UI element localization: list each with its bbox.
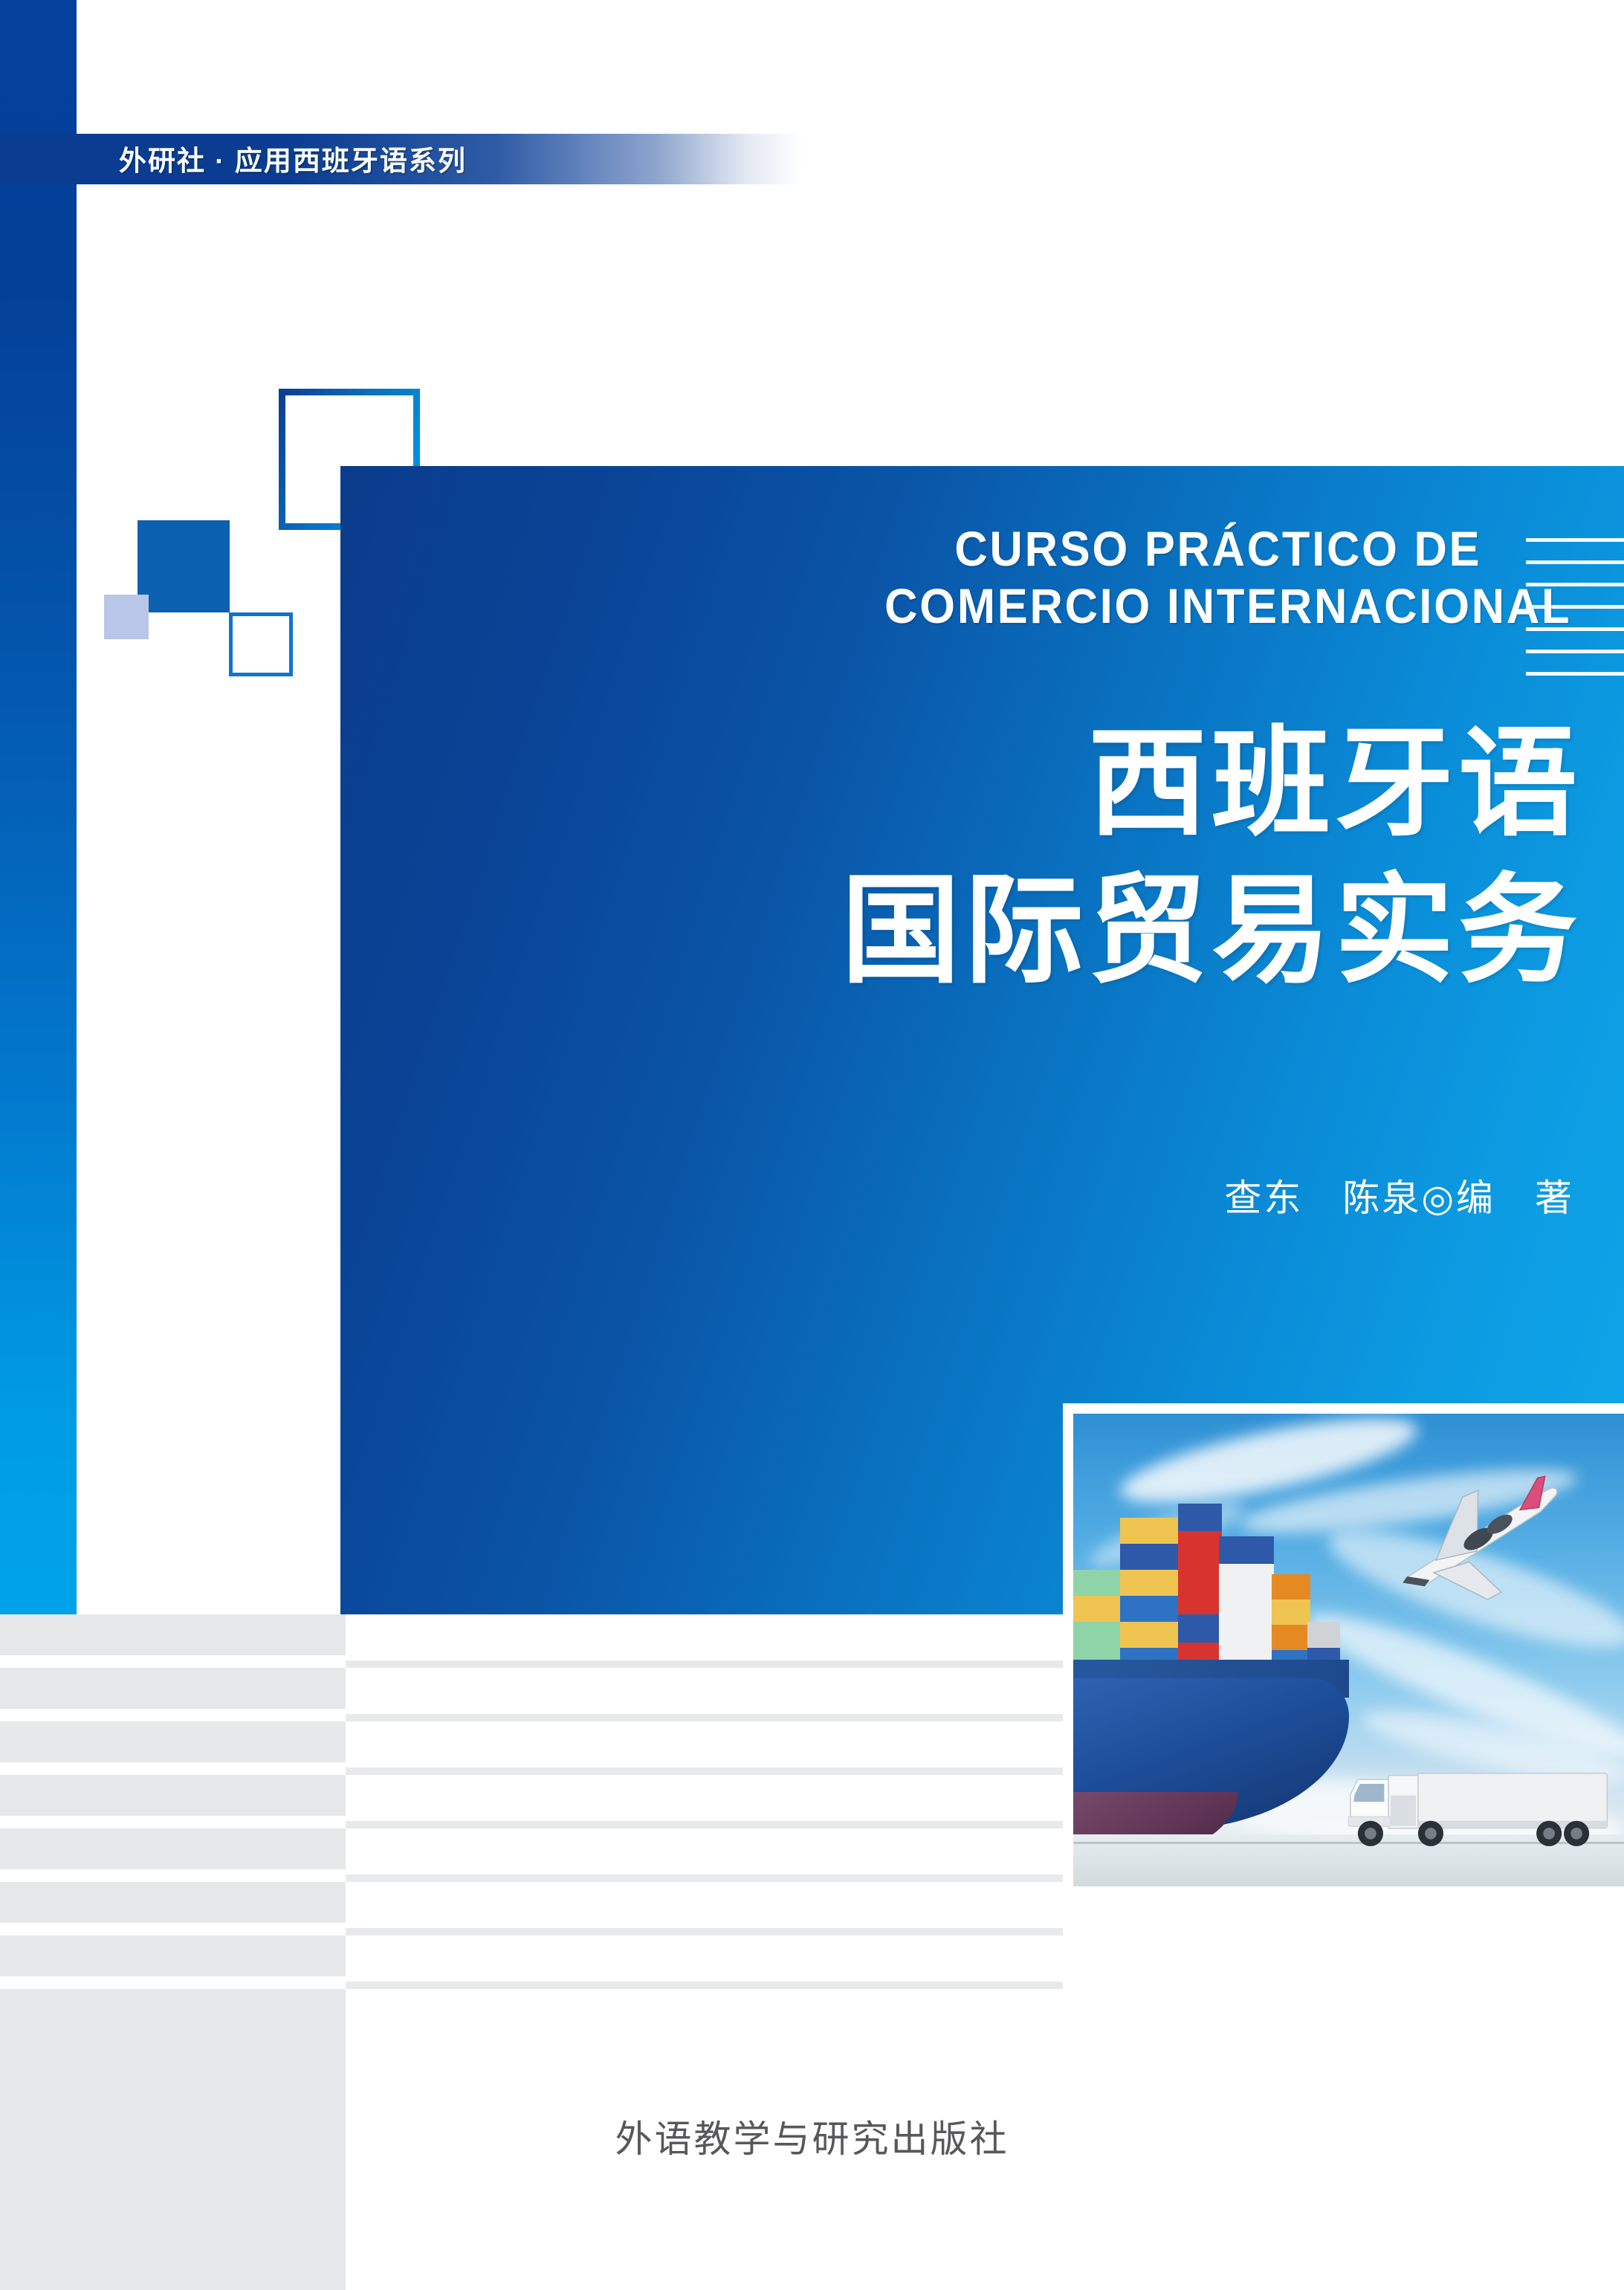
cargo-airplane-icon — [1349, 1470, 1602, 1612]
spanish-title: CURSO PRÁCTICO DE COMERCIO INTERNACIONAL — [427, 520, 1574, 634]
spanish-title-line1: CURSO PRÁCTICO DE — [427, 520, 1574, 578]
rule-line — [1526, 650, 1624, 653]
series-banner-label: 外研社 · 应用西班牙语系列 — [119, 138, 467, 178]
cover-photo — [1073, 1414, 1624, 1886]
chinese-title-line2: 国际贸易实务 — [340, 857, 1582, 1004]
chinese-title-line1: 西班牙语 — [340, 710, 1582, 857]
decor-square-outline-small — [229, 612, 293, 676]
book-cover: 外研社 · 应用西班牙语系列 CURSO PRÁCTICO DE COMERCI… — [0, 0, 1624, 2290]
decor-square-solid-medium — [138, 520, 230, 612]
chinese-title: 西班牙语 国际贸易实务 — [340, 710, 1598, 1005]
cover-photo-frame — [1063, 1403, 1624, 1886]
rule-line — [1526, 672, 1624, 676]
publisher-name: 外语教学与研究出版社 — [0, 2109, 1624, 2163]
series-banner: 外研社 · 应用西班牙语系列 — [0, 134, 803, 184]
left-gradient-bar — [0, 0, 77, 1614]
spanish-title-line2: COMERCIO INTERNACIONAL — [427, 578, 1574, 635]
author-line: 查东 陈泉◎编 著 — [340, 1168, 1619, 1222]
bottom-stripes-middle — [346, 1614, 1063, 2001]
cargo-truck-icon — [1332, 1764, 1618, 1854]
decor-square-pale — [104, 595, 149, 639]
